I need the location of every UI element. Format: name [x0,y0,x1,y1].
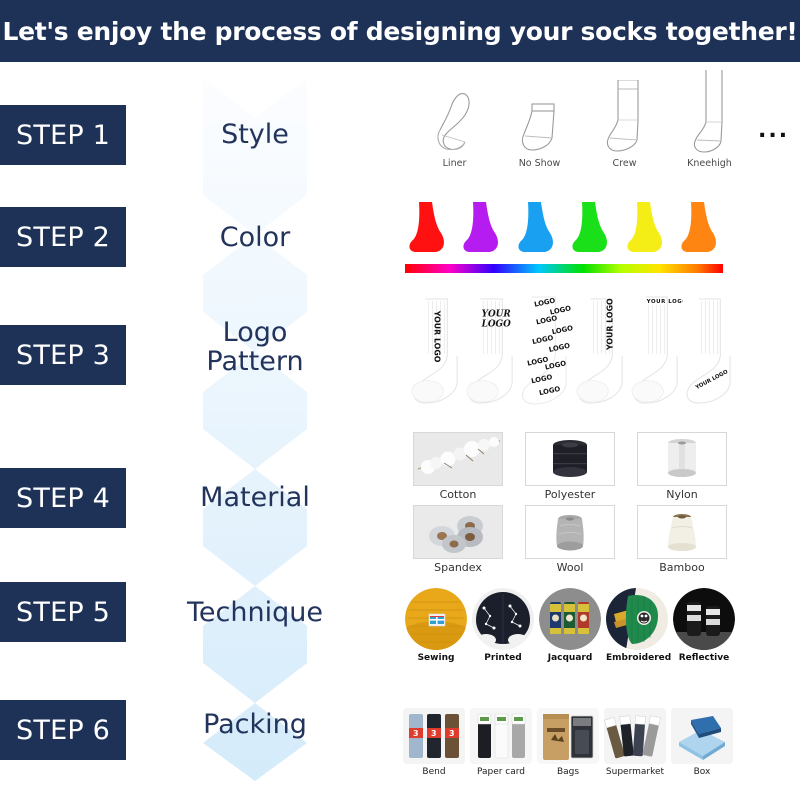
step-badge-label-3: STEP 3 [16,340,110,371]
page-header: Let's enjoy the process of designing you… [0,0,800,62]
crew-sock-icon [582,84,667,154]
arrow-shape [203,78,307,781]
material-label: Nylon [626,488,738,501]
step-badge-label-1: STEP 1 [16,120,110,151]
step-name-color: Color [160,223,350,252]
bags-thumbnail [537,708,599,764]
step-4-content: Cotton Polyester [402,432,738,578]
liner-sock-icon [412,84,497,154]
technique-label: Printed [472,653,534,663]
step-badge-1[interactable]: STEP 1 [0,105,126,165]
color-sock-green[interactable] [568,200,614,258]
step-6-content: 3 3 3 Bend [403,708,733,777]
packing-label: Paper card [470,767,532,777]
logo-sock-top-band[interactable]: YOUR LOGO [628,292,683,410]
nylon-thumbnail [637,432,727,486]
step-badge-label-5: STEP 5 [16,597,110,628]
rainbow-gradient-bar [405,264,723,273]
bend-thumbnail: 3 3 3 [403,708,465,764]
step-badge-6[interactable]: STEP 6 [0,700,126,760]
technique-label: Jacquard [539,653,601,663]
bamboo-thumbnail [637,505,727,559]
sock-style-liner[interactable]: Liner [412,84,497,169]
step-name-technique: Technique [160,598,350,627]
logo-sock-list: YOUR LOGO YOUR LOGO LOGO LOGO LOGO LOGO … [408,292,738,410]
step-name-line-2: Pattern [160,347,350,376]
sock-style-label: No Show [497,158,582,169]
color-sock-purple[interactable] [459,200,505,258]
box-thumbnail [671,708,733,764]
packing-bend[interactable]: 3 3 3 Bend [403,708,465,777]
material-polyester[interactable]: Polyester [514,432,626,501]
sock-style-label: Kneehigh [667,158,752,169]
sock-style-list: Liner No Show Crew [412,84,789,169]
logo-text: YOUR [482,310,511,320]
spandex-thumbnail [413,505,503,559]
svg-text:3: 3 [431,729,437,738]
material-spandex[interactable]: Spandex [402,505,514,574]
packing-label: Bags [537,767,599,777]
material-label: Spandex [402,561,514,574]
logo-text: LOGO [481,319,511,329]
step-badge-3[interactable]: STEP 3 [0,325,126,385]
technique-label: Sewing [405,653,467,663]
supermarket-thumbnail [604,708,666,764]
technique-sewing[interactable]: Sewing [405,588,467,663]
step-badge-label-4: STEP 4 [16,483,110,514]
step-badge-label-6: STEP 6 [16,715,110,746]
color-sock-list [405,200,723,258]
material-cotton[interactable]: Cotton [402,432,514,501]
embroidered-thumbnail [606,588,668,650]
technique-jacquard[interactable]: Jacquard [539,588,601,663]
step-name-logo-pattern: Logo Pattern [160,318,350,376]
technique-label: Embroidered [606,653,668,663]
step-badge-label-2: STEP 2 [16,222,110,253]
more-styles-ellipsis: ... [758,118,789,169]
packing-label: Supermarket [604,767,666,777]
color-sock-blue[interactable] [514,200,560,258]
cotton-thumbnail [413,432,503,486]
material-label: Cotton [402,488,514,501]
material-nylon[interactable]: Nylon [626,432,738,501]
step-name-material: Material [160,483,350,512]
material-label: Wool [514,561,626,574]
packing-supermarket[interactable]: Supermarket [604,708,666,777]
polyester-thumbnail [525,432,615,486]
printed-thumbnail [472,588,534,650]
sock-style-crew[interactable]: Crew [582,84,667,169]
material-label: Polyester [514,488,626,501]
material-wool[interactable]: Wool [514,505,626,574]
step-5-content: Sewing [405,588,735,663]
packing-box[interactable]: Box [671,708,733,777]
logo-text: LOGO [531,334,554,346]
no-show-sock-icon [497,84,582,154]
packing-label: Bend [403,767,465,777]
packing-paper-card[interactable]: Paper card [470,708,532,777]
step-name-packing: Packing [160,710,350,739]
color-sock-red[interactable] [405,200,451,258]
technique-reflective[interactable]: Reflective [673,588,735,663]
technique-printed[interactable]: Printed [472,588,534,663]
sock-style-label: Liner [412,158,497,169]
logo-sock-foot[interactable]: YOUR LOGO [683,292,738,410]
color-sock-yellow[interactable] [623,200,669,258]
color-sock-orange[interactable] [677,200,723,258]
logo-sock-all-over[interactable]: LOGO LOGO LOGO LOGO LOGO LOGO LOGO LOGO … [518,292,573,410]
logo-sock-side-vertical[interactable]: YOUR LOGO [573,292,628,410]
kneehigh-sock-icon [667,84,752,154]
step-name-line-1: Logo [160,318,350,347]
svg-text:3: 3 [413,729,419,738]
step-badge-5[interactable]: STEP 5 [0,582,126,642]
step-2-content [405,200,723,273]
step-3-content: YOUR LOGO YOUR LOGO LOGO LOGO LOGO LOGO … [408,292,738,410]
technique-embroidered[interactable]: Embroidered [606,588,668,663]
packing-bags[interactable]: Bags [537,708,599,777]
wool-thumbnail [525,505,615,559]
technique-label: Reflective [673,653,735,663]
logo-sock-vertical-cuff[interactable]: YOUR LOGO [408,292,463,410]
paper-card-thumbnail [470,708,532,764]
step-1-content: Liner No Show Crew [412,84,789,169]
logo-text: YOUR LOGO [433,310,442,363]
packing-label: Box [671,767,733,777]
step-badge-2[interactable]: STEP 2 [0,207,126,267]
sock-style-kneehigh[interactable]: Kneehigh [667,84,752,169]
page-title: Let's enjoy the process of designing you… [2,17,797,46]
jacquard-thumbnail [539,588,601,650]
process-arrow [203,78,307,781]
packing-list: 3 3 3 Bend [403,708,733,777]
step-badge-4[interactable]: STEP 4 [0,468,126,528]
sock-style-no-show[interactable]: No Show [497,84,582,169]
logo-text: YOUR LOGO [605,298,614,351]
material-label: Bamboo [626,561,738,574]
technique-list: Sewing [405,588,735,663]
sock-style-label: Crew [582,158,667,169]
step-name-style: Style [160,120,350,149]
material-bamboo[interactable]: Bamboo [626,505,738,574]
svg-text:3: 3 [449,729,455,738]
material-grid: Cotton Polyester [402,432,738,578]
logo-sock-cuff-italic[interactable]: YOUR LOGO [463,292,518,410]
sewing-thumbnail [405,588,467,650]
reflective-thumbnail [673,588,735,650]
logo-text: YOUR LOGO [646,299,683,305]
